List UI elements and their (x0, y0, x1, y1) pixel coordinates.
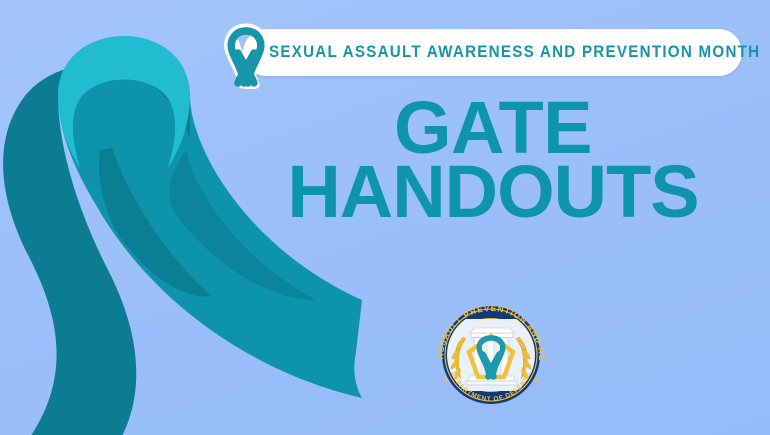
seal-dot-left (444, 378, 447, 381)
page-title: GATE HANDOUTS (258, 96, 728, 223)
seal-dot-right (534, 378, 537, 381)
page-title-line-2: HANDOUTS (258, 160, 728, 224)
awareness-month-banner-label: SEXUAL ASSAULT AWARENESS AND PREVENTION … (269, 43, 760, 62)
awareness-month-banner: SEXUAL ASSAULT AWARENESS AND PREVENTION … (243, 29, 742, 76)
page-title-line-1: GATE (258, 96, 728, 160)
poster-canvas: SEXUAL ASSAULT AWARENESS AND PREVENTION … (0, 0, 770, 435)
sapr-dod-seal: SEXUAL ASSAULT PREVENTION AND RESPONSE D… (423, 303, 559, 407)
awareness-ribbon-icon (218, 23, 274, 89)
